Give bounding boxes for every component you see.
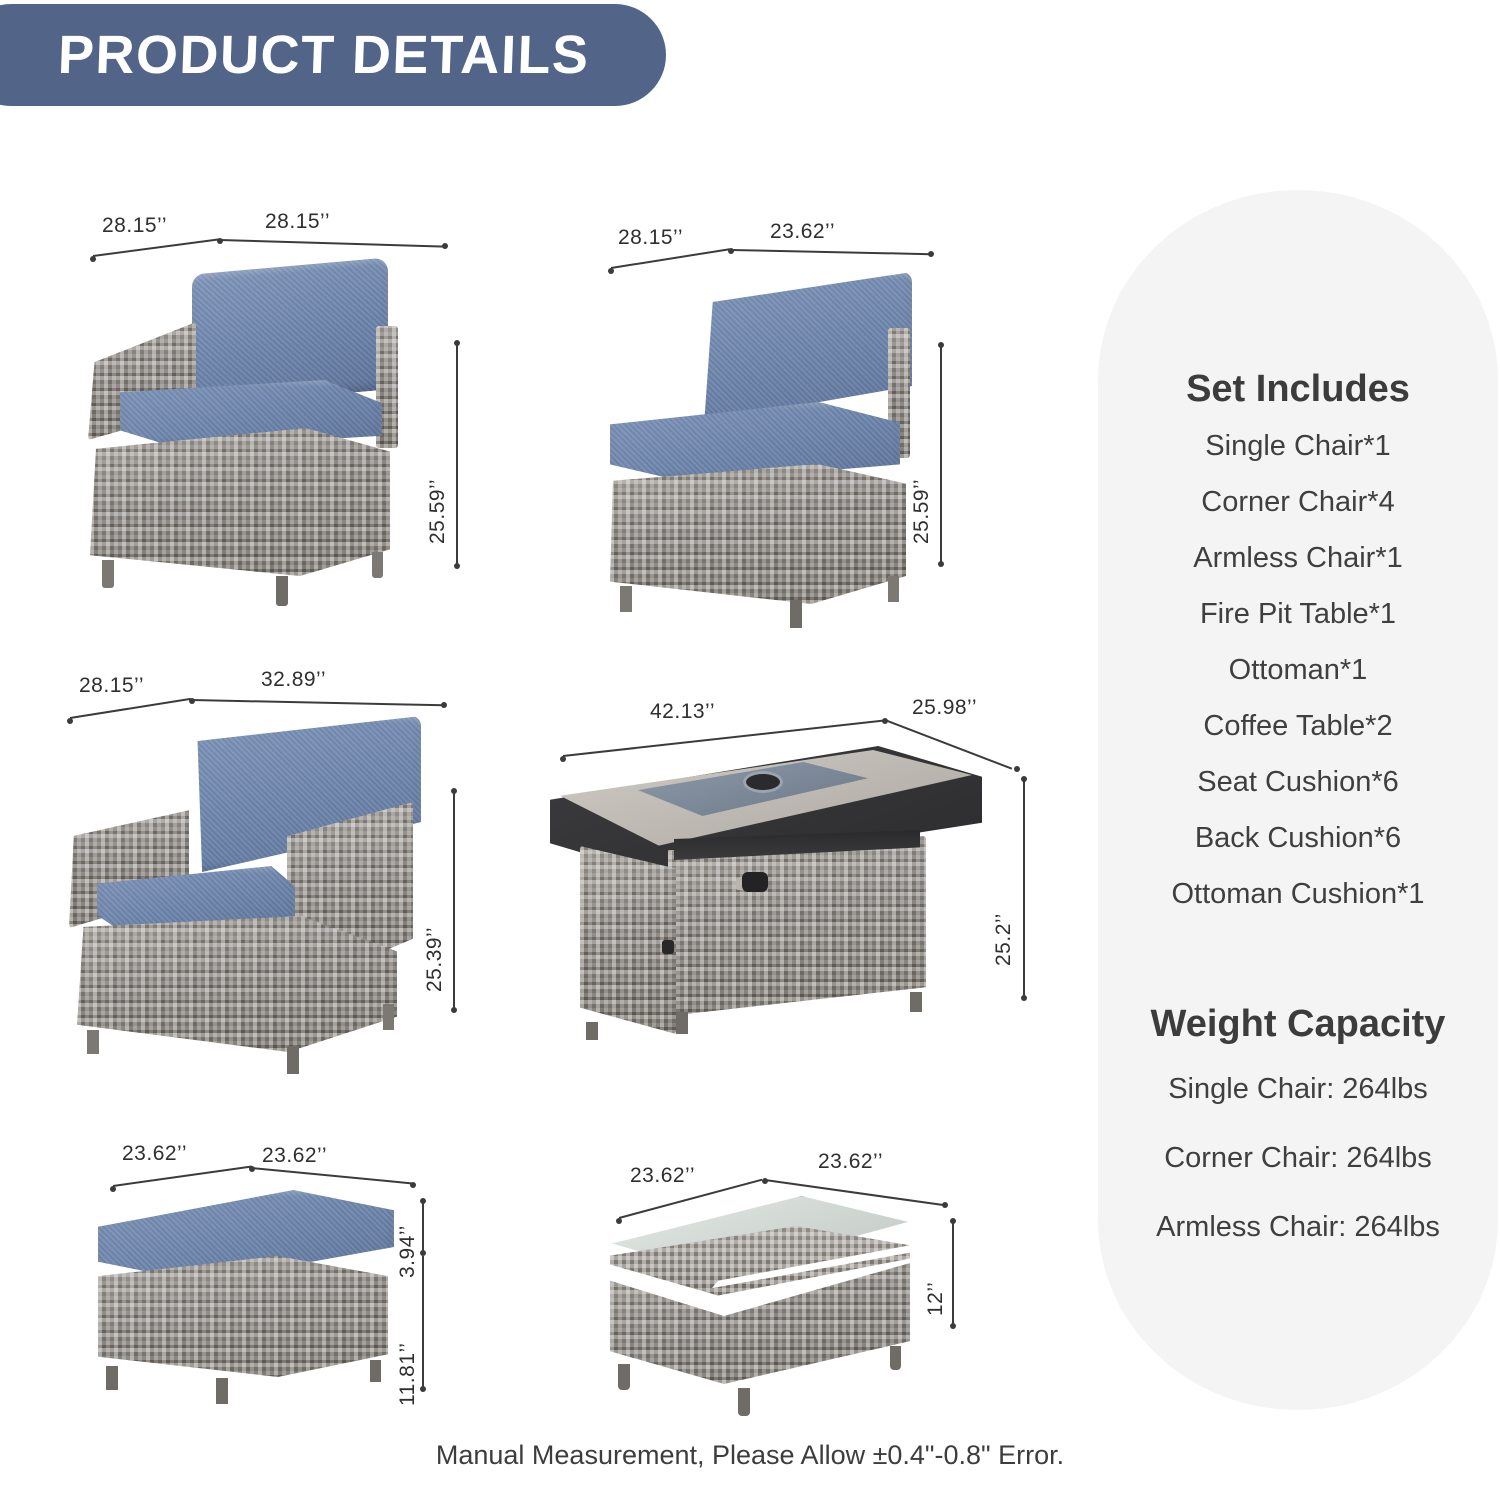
chair-leg (287, 1046, 299, 1074)
set-includes-item: Ottoman Cushion*1 (1098, 880, 1498, 909)
product-ottoman: 23.62’’ 23.62’’ 3.94’’ 11.81’’ (80, 1140, 480, 1430)
chair-leg (87, 1030, 99, 1054)
set-includes-item: Armless Chair*1 (1098, 544, 1498, 573)
chair-leg (790, 600, 802, 628)
table-leg (676, 1012, 688, 1034)
weight-capacity-item: Corner Chair: 264lbs (1098, 1144, 1498, 1173)
chair-leg (383, 1004, 394, 1030)
table-leg (910, 992, 922, 1012)
back-cushion (700, 272, 912, 422)
weight-capacity-item: Armless Chair: 264lbs (1098, 1213, 1498, 1242)
dimension-line-height (940, 345, 942, 563)
chair-base (610, 464, 906, 604)
product-armless-chair: 28.15’’ 23.62’’ 25.59’’ (580, 220, 1020, 630)
dimension-line-depth (611, 248, 730, 268)
fire-pit-body-side (580, 846, 676, 1034)
dim-label-depth: 23.62’’ (122, 1142, 187, 1166)
weight-capacity-heading-wrap: Weight Capacity (1098, 1003, 1498, 1046)
ottoman-leg (370, 1360, 381, 1382)
dim-label-depth: 28.15’’ (618, 226, 683, 250)
table-leg (738, 1388, 750, 1416)
dim-dot (928, 251, 934, 257)
dim-label-width: 23.62’’ (770, 220, 835, 244)
dim-dot (950, 1323, 956, 1329)
ottoman-base-front (98, 1256, 388, 1382)
product-coffee-table: 23.62’’ 23.62’’ 12’’ (590, 1140, 1010, 1430)
chair-leg (620, 586, 632, 612)
table-leg (618, 1364, 630, 1390)
weight-capacity-item: Single Chair: 264lbs (1098, 1075, 1498, 1104)
dimension-line-body-height (422, 1256, 424, 1388)
fire-pit-burner-hole (746, 774, 780, 790)
dim-label-width: 32.89’’ (261, 668, 326, 692)
dimension-line-height (952, 1221, 954, 1325)
product-corner-chair: 28.15’’ 28.15’’ 25.59’’ (60, 210, 540, 630)
ottoman-leg (106, 1366, 118, 1390)
fire-pit-body-front (668, 836, 926, 1016)
dim-label-depth: 23.62’’ (630, 1164, 695, 1188)
dim-dot (420, 1386, 426, 1392)
dim-dot (454, 563, 460, 569)
dim-label-depth: 28.15’’ (79, 674, 144, 698)
set-includes-item: Back Cushion*6 (1098, 824, 1498, 853)
table-leg (890, 1346, 901, 1370)
dim-label-width: 23.62’’ (262, 1144, 327, 1168)
chair-leg (888, 576, 899, 602)
fire-pit-illustration (550, 744, 1000, 1044)
set-includes-item: Fire Pit Table*1 (1098, 600, 1498, 629)
product-fire-pit-table: 42.13’’ 25.98’’ 25.2’’ (540, 694, 1040, 1054)
fire-pit-latch[interactable] (662, 940, 674, 954)
chair-base (90, 428, 390, 576)
dim-label-width: 23.62’’ (818, 1150, 883, 1174)
ottoman-illustration (90, 1190, 410, 1420)
dim-dot (1021, 995, 1027, 1001)
set-includes-item: Single Chair*1 (1098, 432, 1498, 461)
dimension-line-cushion-height (422, 1201, 424, 1253)
coffee-table-illustration (604, 1196, 944, 1426)
dimension-line-width (192, 699, 444, 706)
product-single-chair: 28.15’’ 32.89’’ 25.39’’ (55, 668, 525, 1068)
set-includes-heading: Set Includes (1098, 368, 1498, 411)
dim-label-width: 42.13’’ (650, 700, 715, 724)
chair-base (77, 916, 397, 1052)
set-includes-item: Seat Cushion*6 (1098, 768, 1498, 797)
dimension-line-width (252, 1167, 411, 1184)
set-includes-item: Corner Chair*4 (1098, 488, 1498, 517)
weight-capacity-list: Single Chair: 264lbs Corner Chair: 264lb… (1098, 1075, 1498, 1282)
fire-pit-control-knob[interactable] (742, 872, 768, 892)
set-includes-item: Coffee Table*2 (1098, 712, 1498, 741)
ottoman-leg (216, 1378, 228, 1404)
weight-capacity-heading: Weight Capacity (1098, 1003, 1498, 1046)
dim-dot (442, 243, 448, 249)
dimension-line-height (1023, 779, 1025, 997)
set-includes-list: Single Chair*1 Corner Chair*4 Armless Ch… (1098, 432, 1498, 936)
chair-leg (102, 560, 114, 588)
set-includes-item: Ottoman*1 (1098, 656, 1498, 685)
measurement-disclaimer: Manual Measurement, Please Allow ±0.4"-0… (0, 1440, 1500, 1471)
armless-chair-illustration (600, 268, 940, 618)
dimension-line-depth (93, 238, 220, 256)
chair-leg (372, 552, 383, 578)
dim-dot (410, 1182, 416, 1188)
dimension-line-height (456, 343, 458, 565)
dim-label-depth: 25.98’’ (912, 696, 977, 720)
dim-label-depth: 28.15’’ (102, 214, 167, 238)
set-includes-heading-wrap: Set Includes (1098, 368, 1498, 411)
info-panel: Set Includes Single Chair*1 Corner Chair… (1098, 190, 1498, 1410)
dim-label-width: 28.15’’ (265, 210, 330, 234)
dimension-line-width (731, 249, 931, 255)
dimension-line-depth (113, 1166, 252, 1187)
corner-chair-illustration (80, 260, 440, 620)
single-chair-illustration (65, 708, 455, 1058)
chair-leg (276, 576, 288, 606)
dim-dot (1014, 766, 1020, 772)
table-leg (586, 1022, 598, 1040)
dimension-line-width (220, 239, 445, 247)
